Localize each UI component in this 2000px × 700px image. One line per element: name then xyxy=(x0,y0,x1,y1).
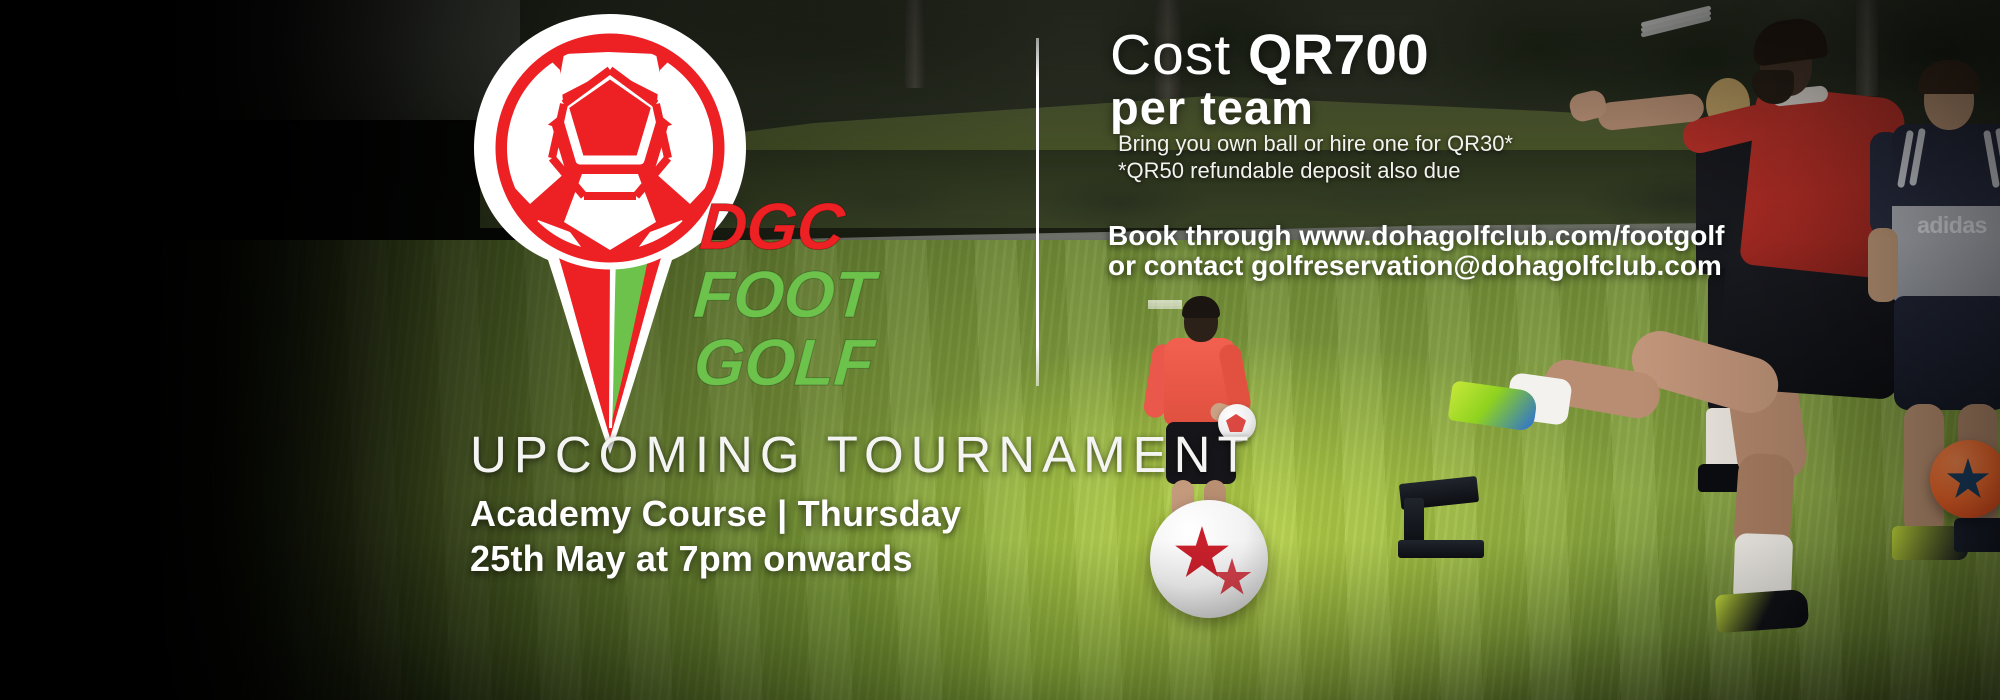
wordmark-line-dgc: DGC xyxy=(697,188,846,264)
booking-email[interactable]: or contact golfreservation@dohagolfclub.… xyxy=(1108,250,1722,282)
booking-website[interactable]: Book through www.dohagolfclub.com/footgo… xyxy=(1108,220,1724,252)
headline-upcoming-tournament: UPCOMING TOURNAMENT xyxy=(470,425,1256,484)
wordmark-line-foot: FOOT xyxy=(691,256,876,332)
cost-value: QR700 xyxy=(1248,23,1429,87)
cost-unit: per team xyxy=(1110,80,1314,135)
deposit-note: *QR50 refundable deposit also due xyxy=(1118,158,1460,184)
vertical-divider xyxy=(1036,38,1039,386)
kit-stripe xyxy=(1148,306,1182,309)
wordmark-line-golf: GOLF xyxy=(691,324,876,400)
event-venue-day: Academy Course | Thursday xyxy=(470,493,961,535)
cost-line: Cost QR700 xyxy=(1110,22,1429,88)
event-date-time: 25th May at 7pm onwards xyxy=(470,538,913,580)
player-hair xyxy=(1182,296,1220,318)
tee-marker-block xyxy=(1404,498,1424,546)
footgolf-promo-banner: adidas xyxy=(0,0,2000,700)
ball-hire-note: Bring you own ball or hire one for QR30* xyxy=(1118,131,1513,157)
dgc-footgolf-wordmark: DGC FOOT GOLF xyxy=(700,188,1040,418)
cost-label: Cost xyxy=(1110,23,1248,87)
